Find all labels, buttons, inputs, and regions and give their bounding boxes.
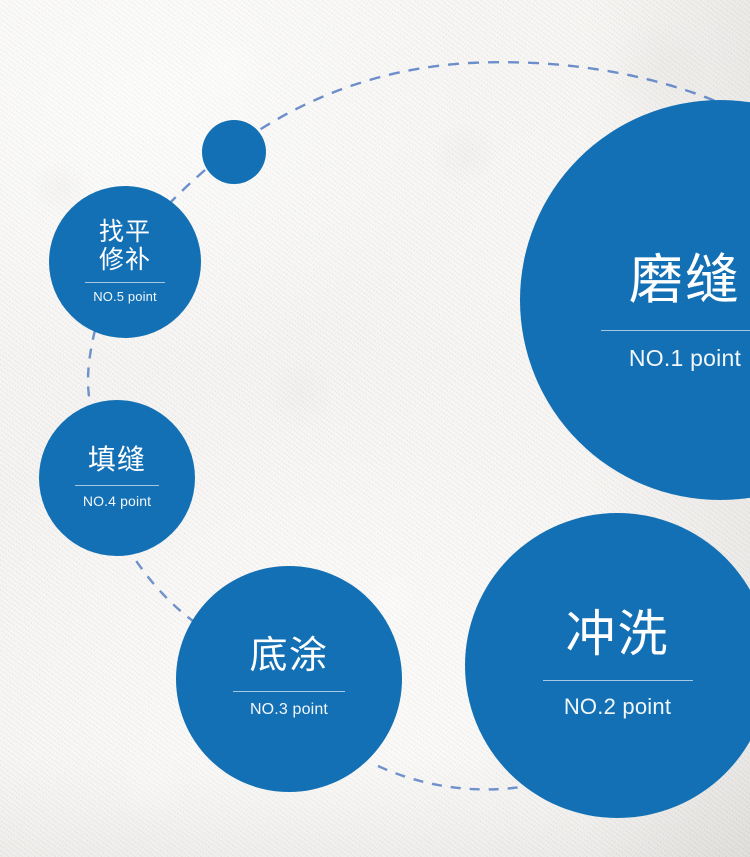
step-node-no4-title: 填缝: [39, 444, 195, 475]
step-node-no4-content: 填缝 NO.4 point: [39, 444, 195, 512]
step-node-no1-subtitle: NO.1 point: [570, 345, 750, 372]
step-node-no4[interactable]: 填缝 NO.4 point: [39, 400, 195, 556]
step-node-no3[interactable]: 底涂 NO.3 point: [176, 566, 402, 792]
step-node-no1-content: 磨缝 NO.1 point: [570, 250, 750, 372]
step-node-no2-content: 冲洗 NO.2 point: [465, 606, 750, 726]
infographic-canvas: 磨缝 NO.1 point 冲洗 NO.2 point 底涂 NO.3 poin…: [0, 0, 750, 857]
step-node-no4-subtitle: NO.4 point: [39, 493, 195, 509]
step-node-no5-subtitle: NO.5 point: [49, 289, 201, 304]
step-node-no2-title: 冲洗: [465, 606, 750, 662]
step-node-no5-divider: [85, 282, 165, 283]
step-node-no4-divider: [75, 485, 159, 486]
step-node-no5-title: 找平 修补: [49, 218, 201, 274]
step-node-no5[interactable]: 找平 修补 NO.5 point: [49, 186, 201, 338]
step-node-no3-subtitle: NO.3 point: [176, 701, 402, 719]
step-node-no1-divider: [601, 330, 750, 331]
step-node-no3-title: 底涂: [176, 635, 402, 678]
accent-dot: [202, 120, 266, 184]
step-node-no1-title: 磨缝: [570, 250, 750, 310]
step-node-no3-divider: [233, 691, 345, 692]
step-node-no2-divider: [543, 680, 693, 681]
step-node-no3-content: 底涂 NO.3 point: [176, 635, 402, 723]
step-node-no2[interactable]: 冲洗 NO.2 point: [465, 513, 750, 818]
step-node-no2-subtitle: NO.2 point: [465, 694, 750, 720]
step-node-no5-content: 找平 修补 NO.5 point: [49, 218, 201, 306]
